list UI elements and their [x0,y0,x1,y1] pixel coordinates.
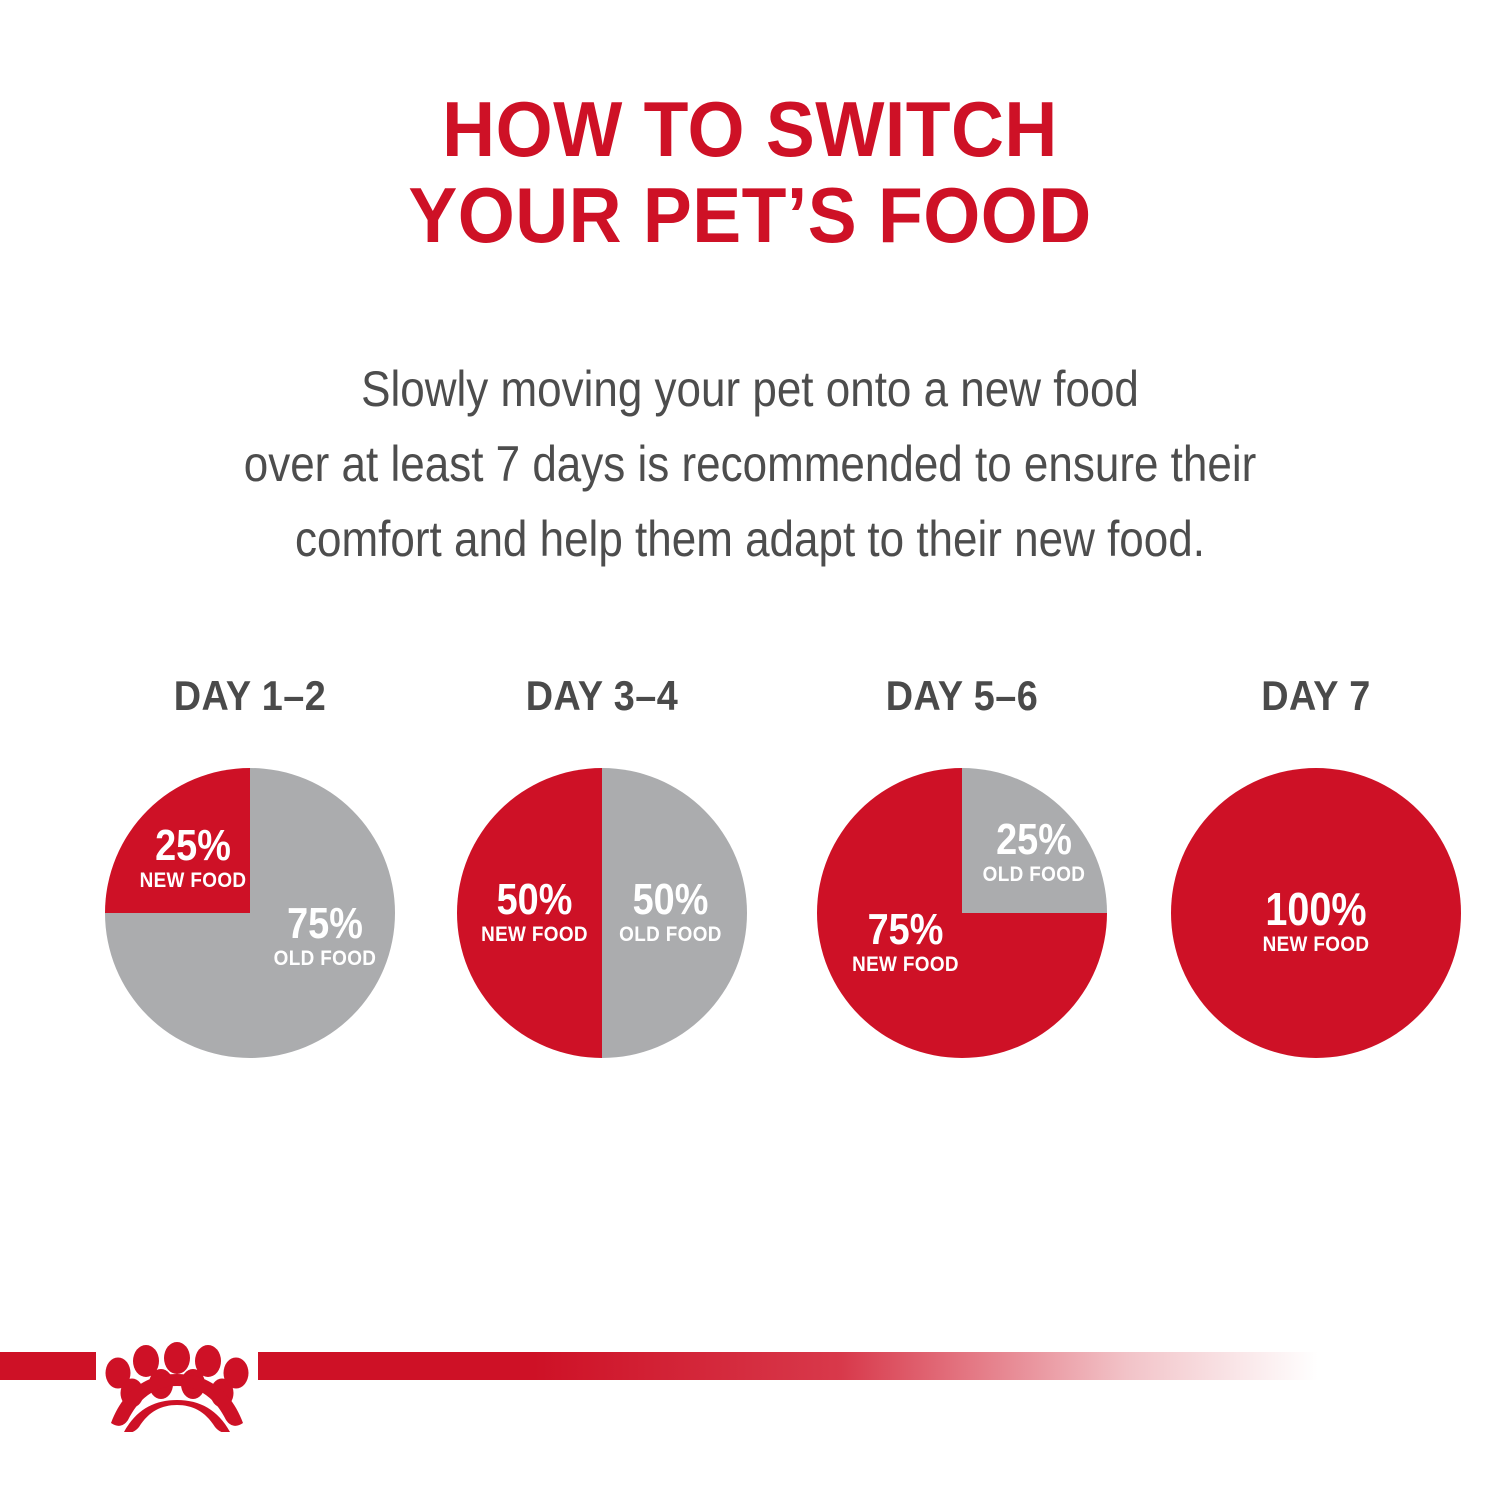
intro-line-3: comfort and help them adapt to their new… [90,502,1410,577]
intro-line-1: Slowly moving your pet onto a new food [90,352,1410,427]
pie-chart-day-3-4: DAY 3–4 50% NEW FOOD 50% OLD FOOD [422,672,782,1072]
pie-graphic-3: 25% OLD FOOD 75% NEW FOOD [817,768,1107,1058]
pie-chart-row: DAY 1–2 25% NEW FOOD 75% OLD FOOD DAY 3–… [0,672,1500,1072]
day-label-2: DAY 3–4 [440,672,764,720]
intro-paragraph: Slowly moving your pet onto a new food o… [90,352,1410,577]
intro-line-2: over at least 7 days is recommended to e… [90,427,1410,502]
pie-graphic-2: 50% NEW FOOD 50% OLD FOOD [457,768,747,1058]
pie-chart-day-1-2: DAY 1–2 25% NEW FOOD 75% OLD FOOD [70,672,430,1072]
footer-bar-left-segment [0,1352,96,1380]
footer-bar-right-segment [258,1352,1318,1380]
day-label-3: DAY 5–6 [800,672,1124,720]
day-label-1: DAY 1–2 [88,672,412,720]
royal-canin-crown-icon [94,1316,260,1432]
day-label-4: DAY 7 [1154,672,1478,720]
pie-graphic-4: 100% NEW FOOD [1171,768,1461,1058]
page-title-line-1: HOW TO SWITCH [45,86,1455,172]
pie-chart-day-5-6: DAY 5–6 25% OLD FOOD 75% NEW FOOD [782,672,1142,1072]
pie-graphic-1: 25% NEW FOOD 75% OLD FOOD [105,768,395,1058]
page-title: HOW TO SWITCH YOUR PET’S FOOD [45,86,1455,258]
pie-chart-day-7: DAY 7 100% NEW FOOD [1136,672,1496,1072]
page-title-line-2: YOUR PET’S FOOD [45,172,1455,258]
footer-brand-bar [0,1352,1500,1472]
